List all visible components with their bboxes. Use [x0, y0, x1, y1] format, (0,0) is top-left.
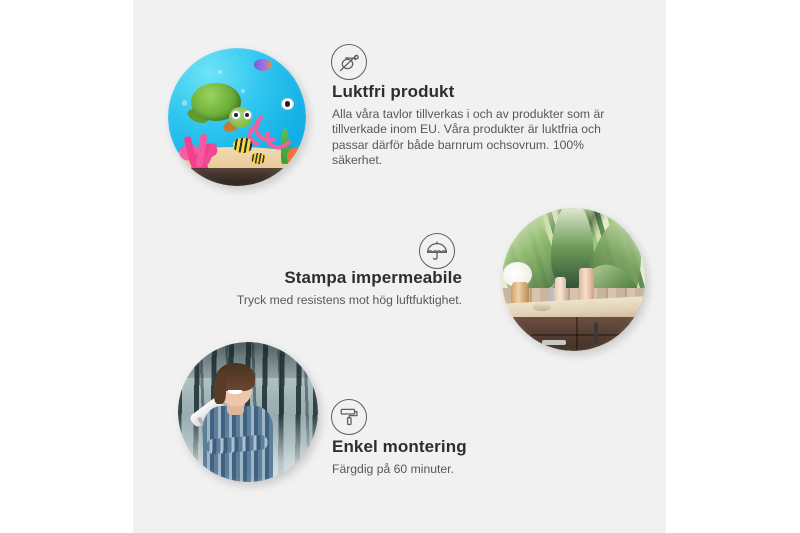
woman-paint-roller-forest-photo — [178, 342, 318, 482]
product-features-infographic: Luktfri produkt Alla våra tavlor tillver… — [0, 0, 800, 533]
feature-title-easy-installation: Enkel montering — [332, 437, 612, 457]
feature-title-odour-free: Luktfri produkt — [332, 82, 620, 102]
feature-text-odour-free: Luktfri produkt Alla våra tavlor tillver… — [332, 82, 620, 169]
feature-description-waterproof-print: Tryck med resistens mot hög luftfuktighe… — [182, 293, 462, 308]
underwater-cartoon-photo — [168, 48, 306, 186]
paint-roller-icon — [331, 399, 367, 435]
no-fragrance-icon — [331, 44, 367, 80]
feature-description-odour-free: Alla våra tavlor tillverkas i och av pro… — [332, 107, 620, 169]
feature-text-waterproof-print: Stampa impermeabile Tryck med resistens … — [182, 268, 462, 308]
feature-text-easy-installation: Enkel montering Färgdig på 60 minuter. — [332, 437, 612, 477]
umbrella-icon — [419, 233, 455, 269]
bathroom-leaf-wallpaper-photo — [502, 208, 645, 351]
feature-description-easy-installation: Färgdig på 60 minuter. — [332, 462, 612, 477]
feature-title-waterproof-print: Stampa impermeabile — [182, 268, 462, 288]
